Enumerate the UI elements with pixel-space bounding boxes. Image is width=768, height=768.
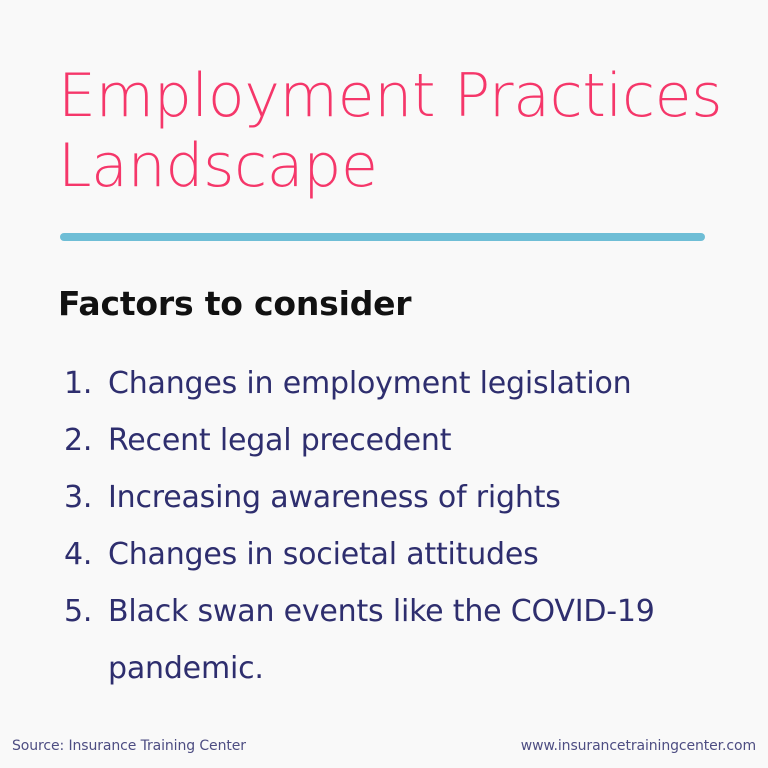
footer-source: Source: Insurance Training Center: [12, 738, 246, 754]
list-item-number: 2.: [64, 412, 108, 469]
title-divider: [60, 233, 705, 241]
factors-list: 1. Changes in employment legislation 2. …: [64, 355, 744, 697]
list-item-text: Black swan events like the COVID-19 pand…: [108, 583, 708, 697]
list-item: 3. Increasing awareness of rights: [64, 469, 744, 526]
list-item-number: 3.: [64, 469, 108, 526]
list-item: 1. Changes in employment legislation: [64, 355, 744, 412]
list-item-text: Changes in societal attitudes: [108, 526, 708, 583]
page-title: Employment Practices Landscape: [58, 62, 726, 201]
list-item-text: Changes in employment legislation: [108, 355, 708, 412]
list-item-number: 5.: [64, 583, 108, 640]
title-block: Employment Practices Landscape: [58, 62, 726, 201]
footer: Source: Insurance Training Center www.in…: [0, 732, 768, 760]
list-item: 4. Changes in societal attitudes: [64, 526, 744, 583]
list-item: 5. Black swan events like the COVID-19 p…: [64, 583, 744, 697]
section-subtitle: Factors to consider: [58, 284, 411, 324]
footer-website: www.insurancetrainingcenter.com: [521, 738, 756, 754]
list-item-number: 1.: [64, 355, 108, 412]
list-item-text: Recent legal precedent: [108, 412, 708, 469]
list-item: 2. Recent legal precedent: [64, 412, 744, 469]
list-item-text: Increasing awareness of rights: [108, 469, 708, 526]
slide-canvas: Employment Practices Landscape Factors t…: [0, 0, 768, 768]
list-item-number: 4.: [64, 526, 108, 583]
